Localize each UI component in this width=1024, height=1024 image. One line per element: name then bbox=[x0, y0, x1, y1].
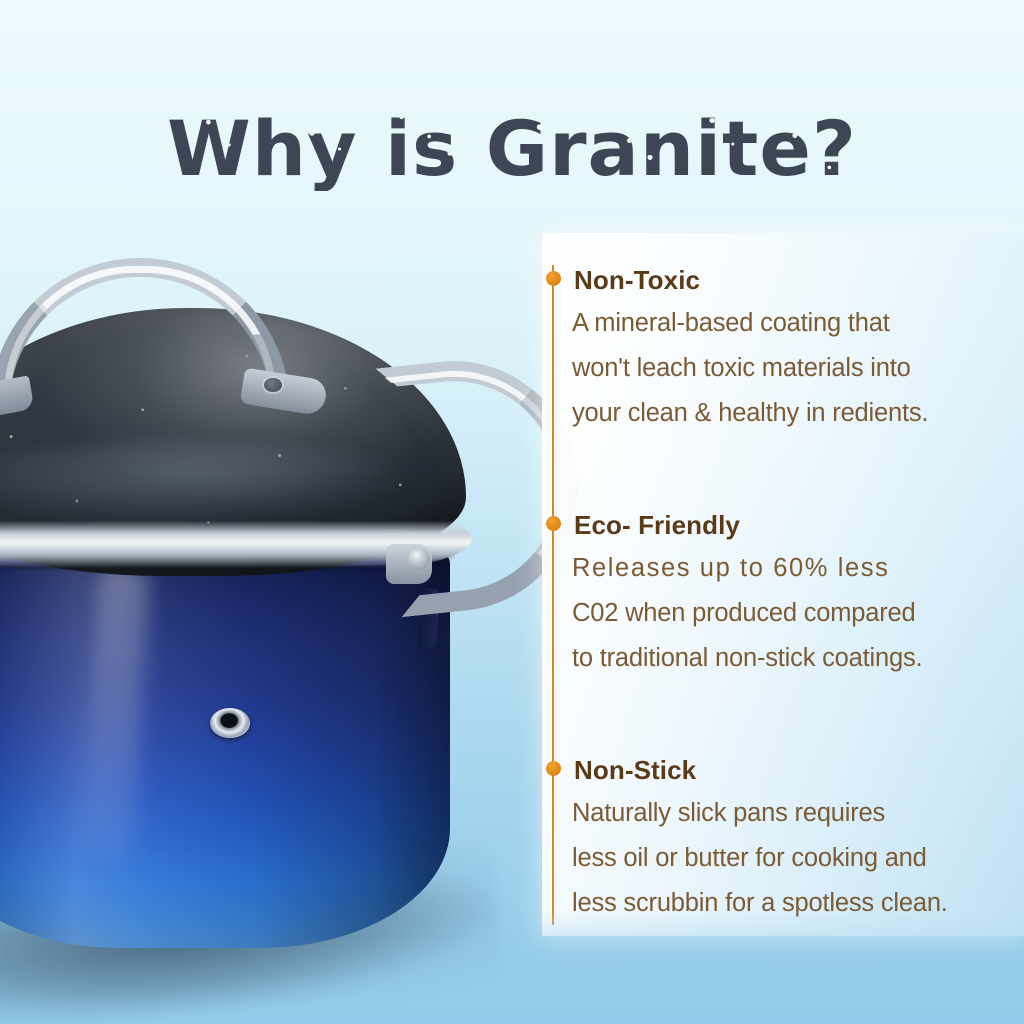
feature-line: less oil or butter for cooking and bbox=[572, 836, 1004, 881]
feature-description: Naturally slick pans requires less oil o… bbox=[572, 791, 1004, 926]
feature-line: less scrubbin for a spotless clean. bbox=[572, 881, 1004, 926]
bullet-dot-icon bbox=[546, 516, 561, 531]
feature-heading: Non-Toxic bbox=[574, 265, 700, 295]
feature-line: to traditional non-stick coatings. bbox=[572, 636, 1004, 681]
product-photo-cookware bbox=[0, 248, 580, 988]
lid-handle-gloss bbox=[4, 266, 276, 396]
product-infographic: Why is Granite? Non-Toxic A mineral bbox=[0, 0, 1024, 1024]
feature-list: Non-Toxic A mineral-based coating that w… bbox=[542, 233, 1024, 936]
feature-heading: Eco- Friendly bbox=[574, 510, 740, 540]
feature-line: Releases up to 60% less bbox=[572, 546, 1004, 591]
title-area: Why is Granite? bbox=[0, 56, 1024, 242]
pot-body bbox=[0, 548, 450, 948]
feature-line: Naturally slick pans requires bbox=[572, 791, 1004, 836]
bullet-dot-icon bbox=[546, 271, 561, 286]
feature-heading: Non-Stick bbox=[574, 755, 696, 785]
feature-line: A mineral-based coating that bbox=[572, 301, 1004, 346]
feature-panel: Non-Toxic A mineral-based coating that w… bbox=[542, 233, 1024, 936]
feature-line: your clean & healthy in redients. bbox=[572, 391, 1004, 436]
feature-description: A mineral-based coating that won't leach… bbox=[572, 301, 1004, 436]
bullet-dot-icon bbox=[546, 761, 561, 776]
feature-line: won't leach toxic materials into bbox=[572, 346, 1004, 391]
pot-handle-rivet bbox=[408, 548, 430, 570]
feature-line: C02 when produced compared bbox=[572, 591, 1004, 636]
feature-description: Releases up to 60% less C02 when produce… bbox=[572, 546, 1004, 681]
lid-handle-rivet bbox=[264, 378, 282, 392]
lid-steam-vent bbox=[210, 708, 250, 738]
page-title: Why is Granite? bbox=[167, 107, 857, 191]
